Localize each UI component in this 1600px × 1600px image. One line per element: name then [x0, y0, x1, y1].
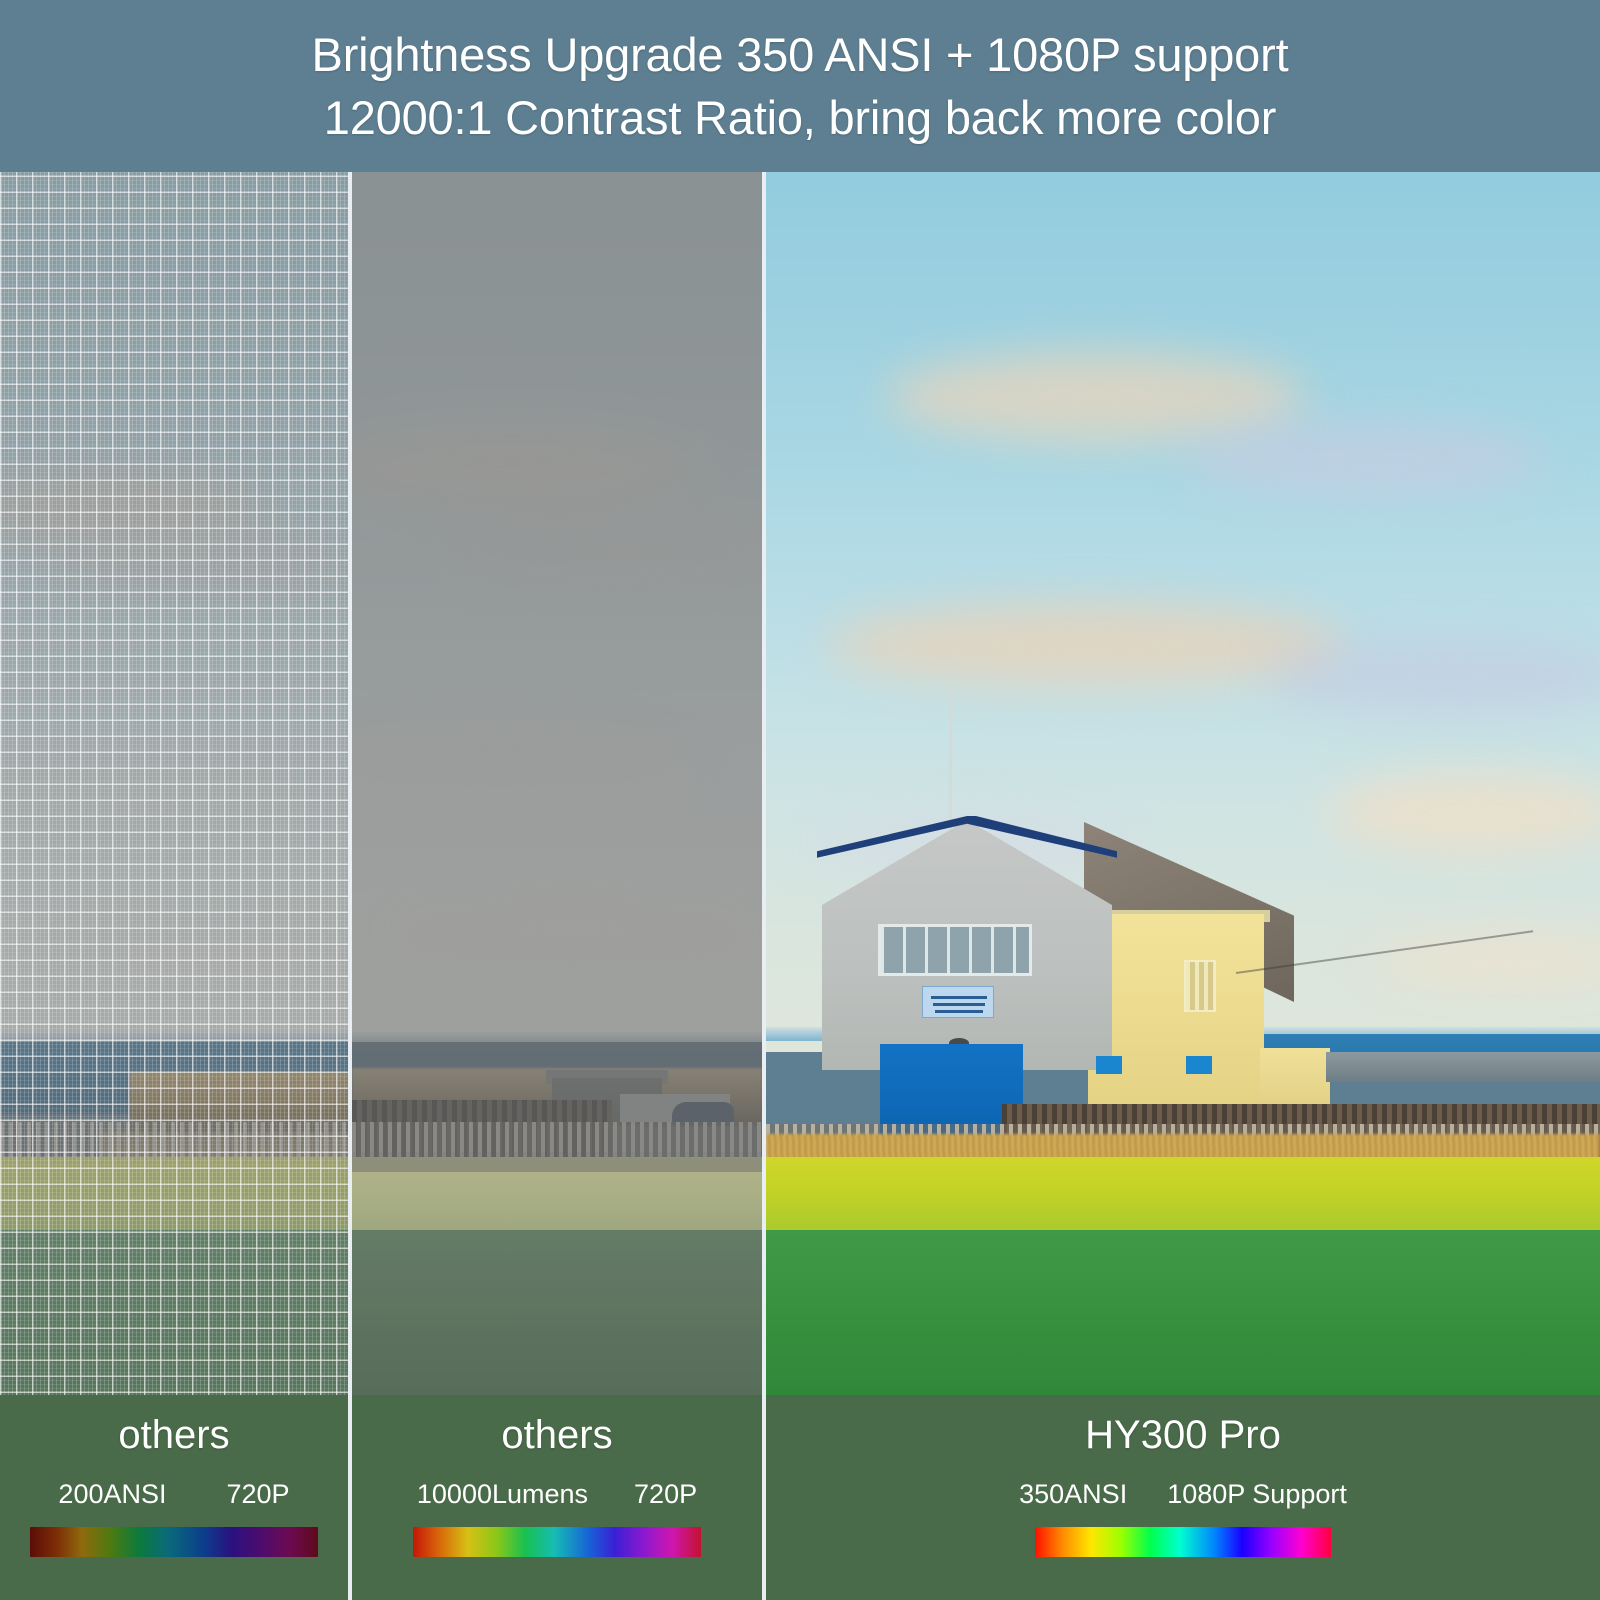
cloud	[60, 932, 348, 980]
scene-image-vivid	[766, 172, 1600, 1395]
panel-title: HY300 Pro	[1085, 1413, 1281, 1457]
color-gamut-bar	[1035, 1527, 1331, 1557]
panel-spec-row: 10000Lumens 720P	[417, 1479, 697, 1509]
sign-text-line	[933, 1003, 985, 1006]
cloud	[0, 772, 310, 827]
grass-field	[766, 1230, 1600, 1395]
brightness-spec: 200ANSI	[58, 1479, 166, 1509]
panel-divider	[348, 172, 352, 1600]
sky	[352, 172, 762, 1052]
building-window-row	[878, 924, 1032, 976]
panel-label-bar: others 10000Lumens 720P	[352, 1395, 762, 1600]
cloud	[382, 902, 762, 957]
brightness-spec: 10000Lumens	[417, 1479, 588, 1509]
annex-tall-window	[1184, 960, 1216, 1012]
annex-small-window	[1096, 1056, 1122, 1074]
scene-image-washed	[352, 172, 762, 1395]
cloud	[1186, 422, 1546, 497]
panel-label-bar: others 200ANSI 720P	[0, 1395, 348, 1600]
color-gamut-bar	[30, 1527, 318, 1557]
sunlit-grass-band	[766, 1157, 1600, 1235]
far-buildings	[1326, 1052, 1600, 1082]
comparison-graphic: Brightness Upgrade 350 ANSI + 1080P supp…	[0, 0, 1600, 1600]
sky	[0, 172, 348, 1052]
grass-field	[0, 1230, 348, 1395]
panel-spec-row: 350ANSI 1080P Support	[1019, 1479, 1347, 1509]
resolution-spec: 720P	[634, 1479, 697, 1509]
picket-fence	[352, 1122, 762, 1158]
panel-title: others	[118, 1413, 229, 1457]
building-wing	[1260, 1048, 1330, 1108]
comparison-panel-others-10000lumens: others 10000Lumens 720P	[352, 172, 762, 1600]
comparison-panel-others-200ansi: others 200ANSI 720P	[0, 172, 348, 1600]
cloud	[40, 532, 348, 592]
annex-small-window	[1186, 1056, 1212, 1074]
scene-image-dim	[0, 172, 348, 1395]
cloud	[352, 732, 702, 792]
cloud	[352, 422, 702, 512]
comparison-panel-hy300-pro: HY300 Pro 350ANSI 1080P Support	[766, 172, 1600, 1600]
cloud	[1266, 642, 1600, 712]
header-line-1: Brightness Upgrade 350 ANSI + 1080P supp…	[312, 23, 1289, 86]
header-banner: Brightness Upgrade 350 ANSI + 1080P supp…	[0, 0, 1600, 172]
panel-row: others 200ANSI 720P	[0, 172, 1600, 1600]
panel-label-bar: HY300 Pro 350ANSI 1080P Support	[766, 1395, 1600, 1600]
header-line-2: 12000:1 Contrast Ratio, bring back more …	[324, 86, 1276, 149]
cloud	[1366, 932, 1600, 987]
panel-spec-row: 200ANSI 720P	[58, 1479, 289, 1509]
grass-field	[352, 1230, 762, 1395]
building-sign	[922, 986, 994, 1018]
cloud	[1326, 772, 1600, 852]
brightness-spec: 350ANSI	[1019, 1479, 1127, 1509]
resolution-spec: 1080P Support	[1167, 1479, 1347, 1509]
sign-text-line	[935, 1010, 983, 1013]
sunlit-grass-band	[0, 1157, 348, 1235]
picket-fence	[0, 1122, 348, 1158]
cloud	[442, 512, 762, 582]
resolution-spec: 720P	[227, 1479, 290, 1509]
cloud	[886, 352, 1306, 442]
panel-divider	[762, 172, 766, 1600]
building-annex	[1088, 914, 1264, 1114]
sign-text-line	[931, 996, 987, 999]
flag-mast	[949, 692, 952, 832]
color-gamut-bar	[413, 1527, 701, 1557]
sunlit-grass-band	[352, 1157, 762, 1235]
panel-title: others	[501, 1413, 612, 1457]
